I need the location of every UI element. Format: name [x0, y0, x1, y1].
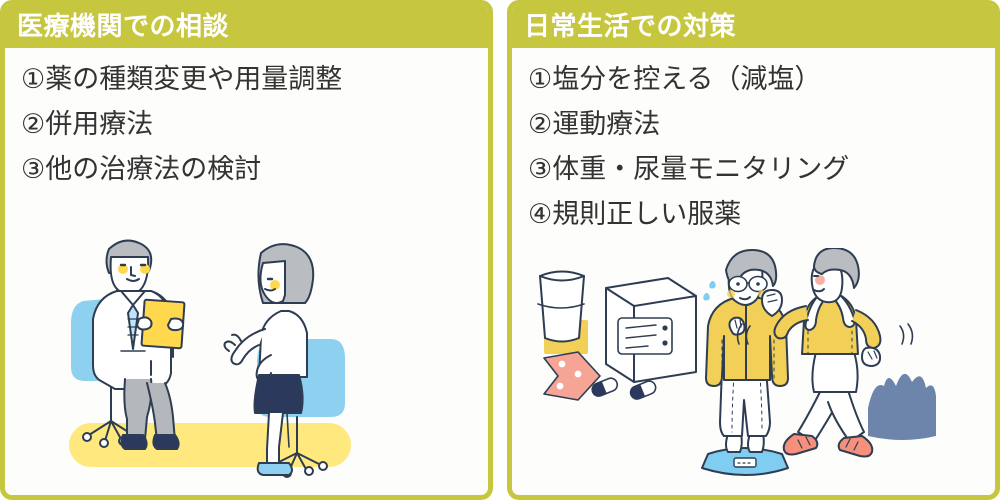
panel-medical-consultation: 医療機関での相談 ①薬の種類変更や用量調整 ②併用療法 ③他の治療法の検討 [0, 0, 493, 500]
panel-daily-life-measures: 日常生活での対策 ①塩分を控える（減塩） ②運動療法 ③体重・尿量モニタリング … [507, 0, 1000, 500]
list-item: ①塩分を控える（減塩） [528, 57, 995, 102]
list-item: ①薬の種類変更や用量調整 [21, 57, 488, 102]
list-item: ③体重・尿量モニタリング [528, 147, 995, 192]
list-item: ④規則正しい服薬 [528, 192, 995, 237]
panel-body-medical: ①薬の種類変更や用量調整 ②併用療法 ③他の治療法の検討 [5, 48, 488, 495]
list-item: ②運動療法 [528, 102, 995, 147]
illustration-daily-life [522, 248, 995, 493]
list-daily: ①塩分を控える（減塩） ②運動療法 ③体重・尿量モニタリング ④規則正しい服薬 [512, 57, 995, 237]
infographic-board: 医療機関での相談 ①薬の種類変更や用量調整 ②併用療法 ③他の治療法の検討 [0, 0, 1000, 500]
illustration-doctor-patient [65, 233, 488, 493]
list-item: ③他の治療法の検討 [21, 147, 488, 192]
panel-title-medical: 医療機関での相談 [4, 4, 489, 48]
list-item: ②併用療法 [21, 102, 488, 147]
panel-title-daily: 日常生活での対策 [511, 4, 996, 48]
list-medical: ①薬の種類変更や用量調整 ②併用療法 ③他の治療法の検討 [5, 57, 488, 192]
panel-body-daily: ①塩分を控える（減塩） ②運動療法 ③体重・尿量モニタリング ④規則正しい服薬 [512, 48, 995, 495]
